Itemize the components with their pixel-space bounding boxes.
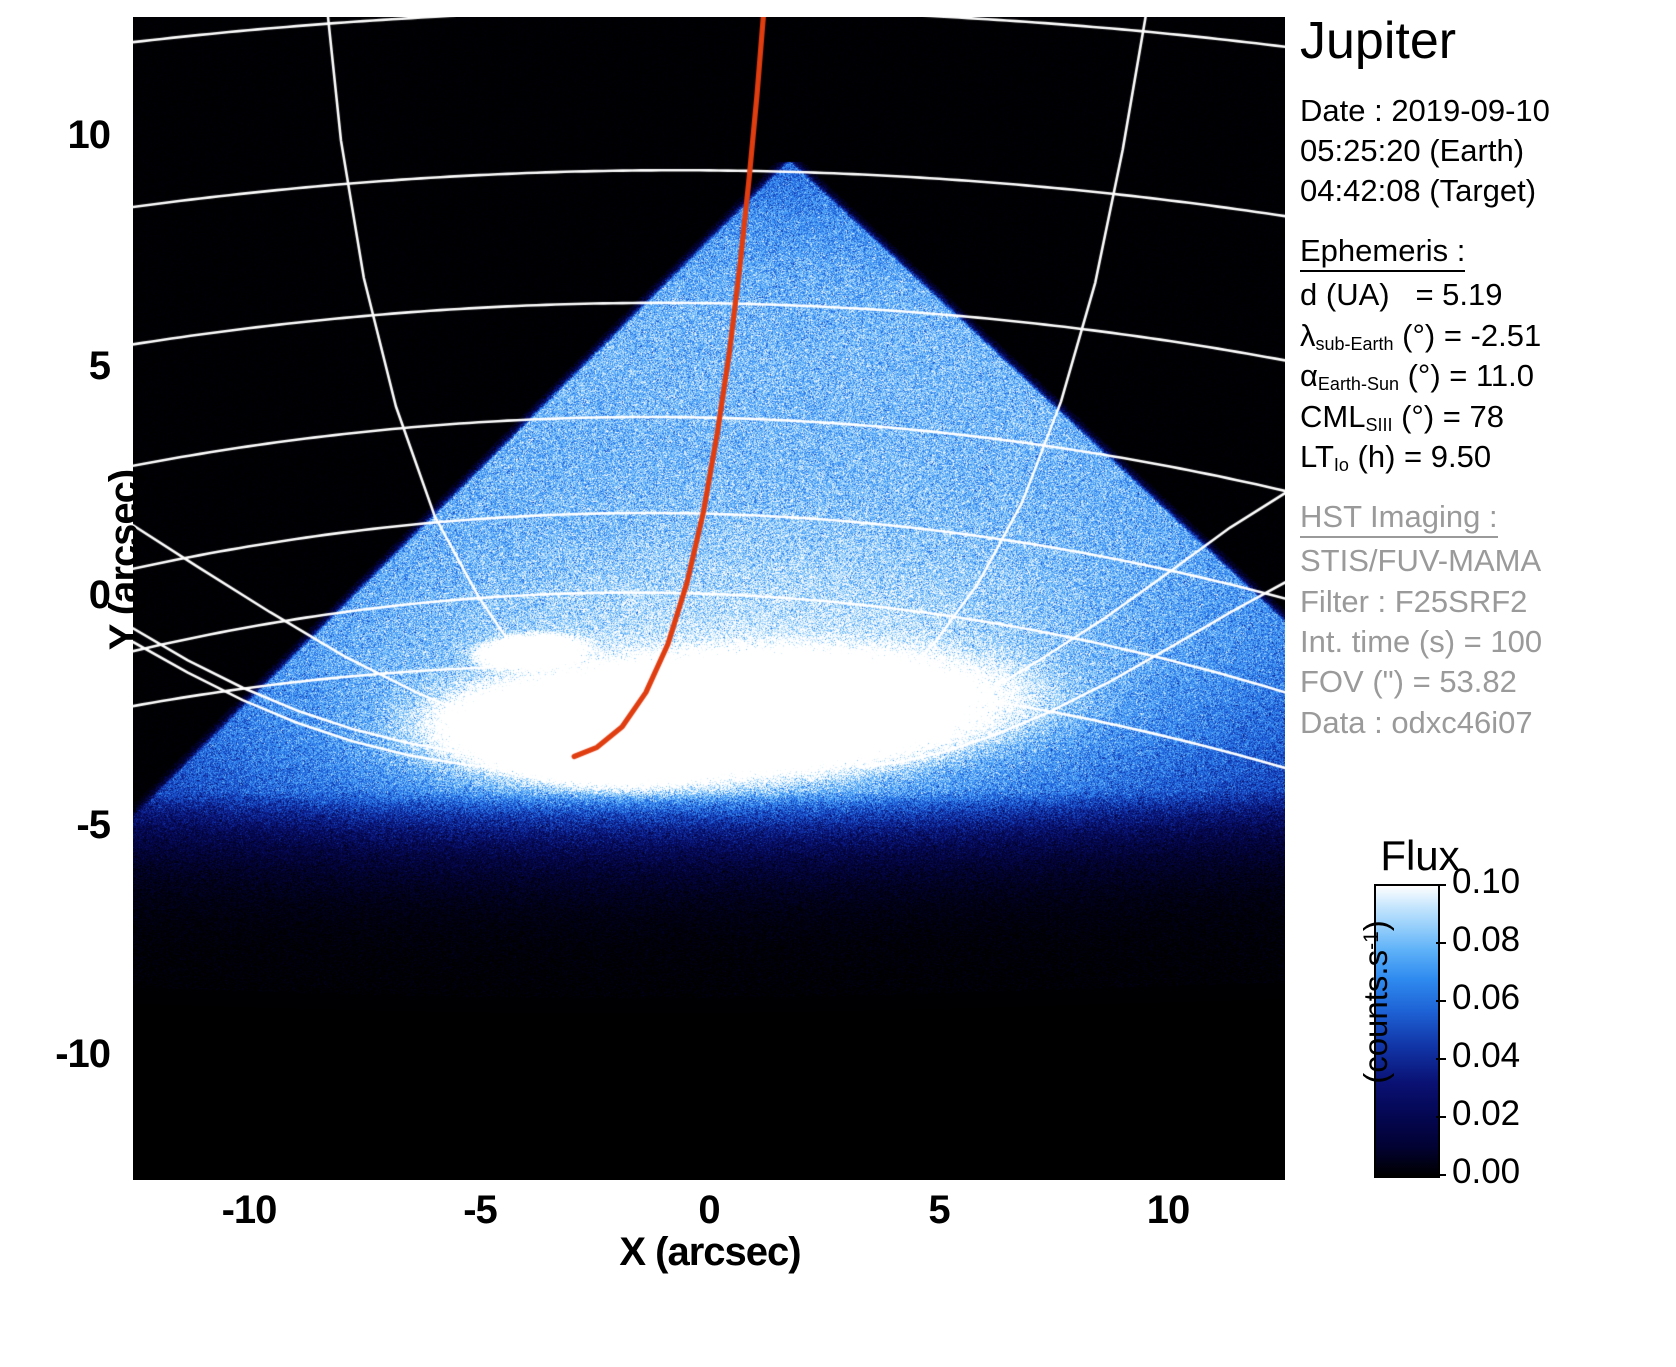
ephemeris-subscript-io: Io bbox=[1334, 455, 1349, 475]
ephemeris-symbol-lt: LT bbox=[1300, 439, 1334, 474]
ephemeris-unit-d: (UA) bbox=[1326, 277, 1390, 312]
y-axis-title: Y (arcsec) bbox=[102, 410, 147, 710]
ephemeris-symbol-cml: CML bbox=[1300, 399, 1365, 434]
ephemeris-value-cml: = 78 bbox=[1443, 399, 1504, 434]
colorbar-tick-010: 0.10 bbox=[1452, 864, 1520, 899]
jupiter-aurora-canvas bbox=[133, 17, 1285, 1180]
ephemeris-value-lt: = 9.50 bbox=[1404, 439, 1491, 474]
ephemeris-value-alpha: = 11.0 bbox=[1449, 358, 1534, 393]
info-panel: Jupiter Date : 2019-09-10 05:25:20 (Eart… bbox=[1300, 14, 1676, 743]
ephemeris-unit-lt: (h) bbox=[1358, 439, 1396, 474]
ephemeris-row-distance: d (UA) = 5.19 bbox=[1300, 275, 1676, 315]
ephemeris-block: Ephemeris : d (UA) = 5.19 λsub-Earth (°)… bbox=[1300, 233, 1676, 477]
ephemeris-symbol-lambda: λ bbox=[1300, 318, 1316, 353]
y-tick-label-neg10: -10 bbox=[0, 1032, 110, 1077]
ephemeris-symbol-alpha: α bbox=[1300, 358, 1318, 393]
ephemeris-subscript-earth-sun: Earth-Sun bbox=[1318, 374, 1399, 394]
ephemeris-row-io-local-time: LTIo (h) = 9.50 bbox=[1300, 437, 1676, 477]
ephemeris-header: Ephemeris : bbox=[1300, 233, 1465, 272]
colorbar-unit-label: (counts.s-1) bbox=[1357, 887, 1395, 1117]
y-tick-label-neg5: -5 bbox=[0, 803, 110, 848]
ephemeris-subscript-siii: SIII bbox=[1365, 415, 1392, 435]
ephemeris-row-cml: CMLSIII (°) = 78 bbox=[1300, 397, 1676, 437]
ephemeris-symbol-d: d bbox=[1300, 277, 1317, 312]
observation-date: Date : 2019-09-10 bbox=[1300, 91, 1676, 131]
x-axis-title: X (arcsec) bbox=[560, 1230, 860, 1275]
ephemeris-row-phase-angle: αEarth-Sun (°) = 11.0 bbox=[1300, 356, 1676, 396]
observation-time-target: 04:42:08 (Target) bbox=[1300, 171, 1676, 211]
colorbar-unit-main: (counts.s bbox=[1357, 950, 1394, 1084]
x-tick-label-0: 0 bbox=[639, 1188, 779, 1233]
x-tick-label-neg10: -10 bbox=[179, 1188, 319, 1233]
ephemeris-subscript-sub-earth: sub-Earth bbox=[1316, 334, 1394, 354]
target-title: Jupiter bbox=[1300, 14, 1676, 69]
x-tick-label-10: 10 bbox=[1098, 1188, 1238, 1233]
colorbar-tick-000: 0.00 bbox=[1452, 1154, 1520, 1189]
hst-filter: Filter : F25SRF2 bbox=[1300, 582, 1676, 622]
colorbar-unit-exponent: -1 bbox=[1360, 931, 1383, 950]
colorbar-tick-004: 0.04 bbox=[1452, 1038, 1520, 1073]
colorbar-tick-006: 0.06 bbox=[1452, 980, 1520, 1015]
hst-imaging-header: HST Imaging : bbox=[1300, 499, 1498, 538]
ephemeris-unit-alpha: (°) bbox=[1408, 358, 1441, 393]
y-tick-label-10: 10 bbox=[0, 113, 110, 158]
ephemeris-row-sub-earth-latitude: λsub-Earth (°) = -2.51 bbox=[1300, 316, 1676, 356]
hst-int-time: Int. time (s) = 100 bbox=[1300, 622, 1676, 662]
hst-fov: FOV (") = 53.82 bbox=[1300, 662, 1676, 702]
y-tick-label-0: 0 bbox=[0, 573, 110, 618]
ephemeris-value-lambda: = -2.51 bbox=[1444, 318, 1541, 353]
colorbar-unit-close: ) bbox=[1357, 920, 1394, 931]
ephemeris-value-d: = 5.19 bbox=[1415, 277, 1502, 312]
colorbar-tick-008: 0.08 bbox=[1452, 922, 1520, 957]
aurora-image-plot bbox=[133, 17, 1285, 1180]
ephemeris-unit-lambda: (°) bbox=[1402, 318, 1435, 353]
y-tick-label-5: 5 bbox=[0, 344, 110, 389]
colorbar-tick-002: 0.02 bbox=[1452, 1096, 1520, 1131]
flux-colorbar-block: Flux (counts.s-1) 0.10 0.08 0.06 0.04 0.… bbox=[1300, 832, 1676, 1352]
ephemeris-unit-cml: (°) bbox=[1401, 399, 1434, 434]
observation-time-earth: 05:25:20 (Earth) bbox=[1300, 131, 1676, 171]
hst-imaging-block: HST Imaging : STIS/FUV-MAMA Filter : F25… bbox=[1300, 499, 1676, 742]
x-tick-label-5: 5 bbox=[869, 1188, 1009, 1233]
x-tick-label-neg5: -5 bbox=[410, 1188, 550, 1233]
hst-data-id: Data : odxc46i07 bbox=[1300, 703, 1676, 743]
hst-instrument: STIS/FUV-MAMA bbox=[1300, 541, 1676, 581]
